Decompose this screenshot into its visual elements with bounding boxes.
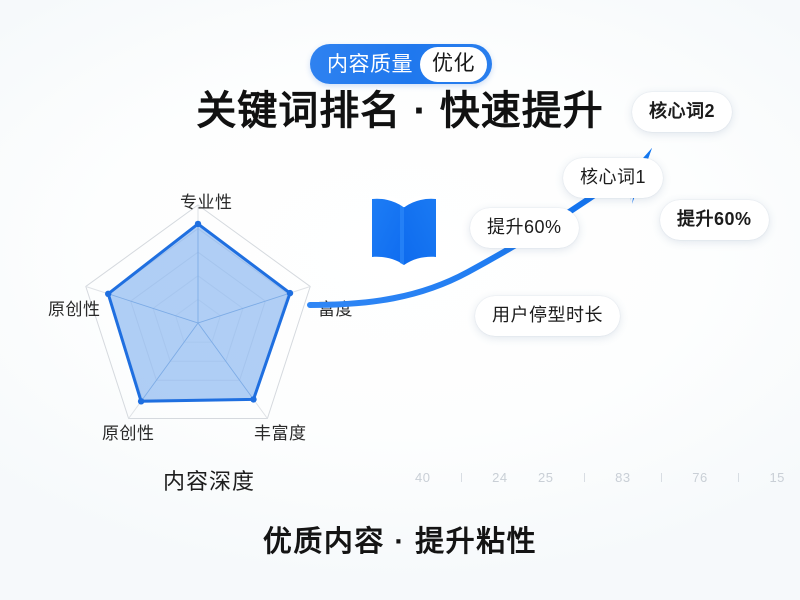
open-book-icon (360, 185, 448, 277)
radar-series-content-depth (105, 221, 293, 405)
tick-mark (661, 473, 662, 482)
tick-mark (584, 473, 585, 482)
pill-uplift-left[interactable]: 提升60% (470, 208, 579, 248)
tick-value-0: 40 (415, 470, 430, 485)
radar-label-left: 原创性 (48, 295, 101, 320)
tick-value-1: 24 (492, 470, 507, 485)
tick-mark (461, 473, 462, 482)
radar-label-top: 专业性 (180, 188, 233, 213)
tick-value-3: 83 (615, 470, 630, 485)
pill-uplift-right[interactable]: 提升60% (660, 200, 769, 240)
tick-value-2: 25 (538, 470, 553, 485)
badge-pill-label: 优化 (420, 47, 487, 82)
pill-keyword-1[interactable]: 核心词1 (563, 158, 663, 198)
tick-value-5: 15 (769, 470, 784, 485)
pill-keyword-2[interactable]: 核心词2 (632, 92, 732, 132)
tick-mark (738, 473, 739, 482)
badge-main-label: 内容质量 (327, 54, 413, 75)
radar-label-bottom-left: 原创性 (102, 419, 155, 444)
faint-tick-axis: 40 24 25 83 76 15 (415, 466, 785, 488)
open-book-svg (360, 185, 448, 277)
content-quality-badge[interactable]: 内容质量 优化 (310, 44, 492, 84)
tick-value-4: 76 (692, 470, 707, 485)
content-depth-caption: 内容深度 (163, 464, 255, 496)
pill-dwell-time[interactable]: 用户停型时长 (475, 296, 620, 336)
poster-canvas: 内容质量 优化 关键词排名 · 快速提升 (0, 0, 800, 600)
radar-label-bottom-right: 丰富度 (254, 419, 307, 444)
footer-tagline: 优质内容 · 提升粘性 (0, 518, 800, 560)
